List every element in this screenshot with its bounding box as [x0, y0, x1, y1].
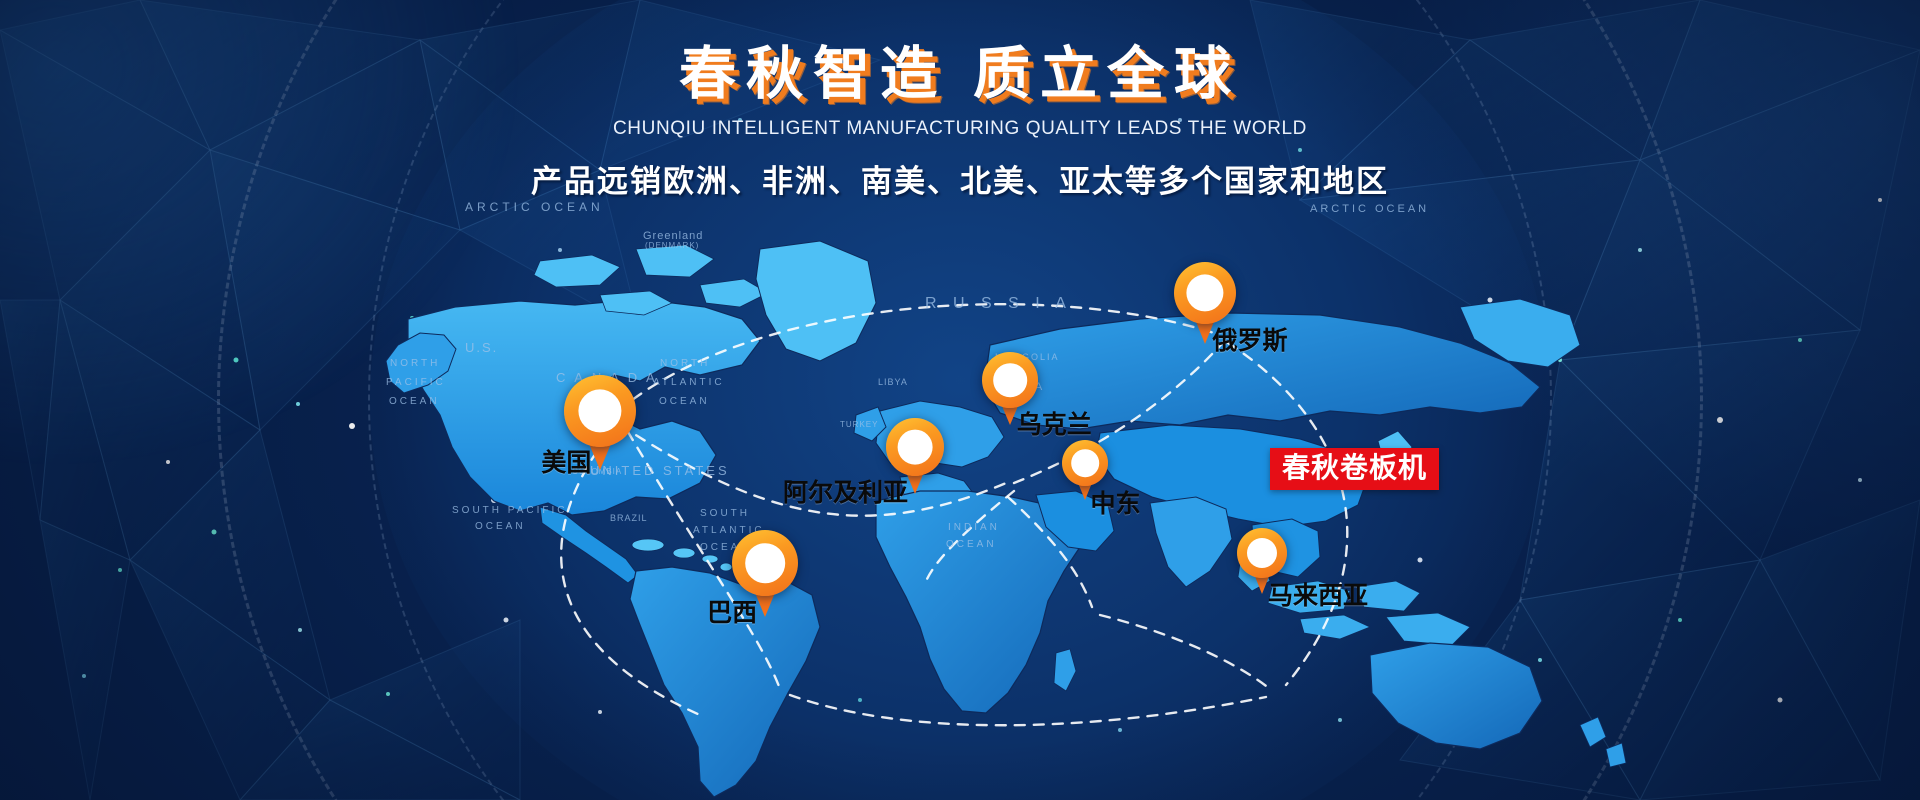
map-pin-ukraine[interactable]: 乌克兰 — [982, 352, 1038, 408]
landmass-greenland — [756, 241, 876, 361]
landmass-india — [1150, 497, 1232, 587]
landmass-new-zealand — [1580, 717, 1626, 767]
landmass-caribbean — [632, 539, 732, 571]
subtitle-chinese: 产品远销欧洲、非洲、南美、北美、亚太等多个国家和地区 — [0, 156, 1920, 201]
map-pin-icon — [732, 530, 798, 596]
world-map-svg — [0, 215, 1920, 800]
world-map: ARCTIC OCEANARCTIC OCEANU.S.C A N A D AU… — [0, 215, 1920, 800]
subtitle-english: CHUNQIU INTELLIGENT MANUFACTURING QUALIT… — [0, 118, 1920, 140]
map-pin-algeria[interactable]: 阿尔及利亚 — [886, 418, 944, 476]
landmass-australia — [1370, 643, 1542, 749]
map-pin-icon — [982, 352, 1038, 408]
map-pin-usa[interactable]: 美国 — [564, 375, 636, 447]
page-title: 春秋智造质立全球 — [0, 44, 1920, 104]
landmass-central-america — [540, 507, 638, 583]
title-part-1: 春秋智造 — [679, 42, 947, 106]
map-pin-icon — [1174, 262, 1236, 324]
brand-badge[interactable]: 春秋卷板机 — [1270, 448, 1439, 490]
map-pin-label: 阿尔及利亚 — [783, 473, 908, 509]
map-pin-malaysia[interactable]: 马来西亚 — [1237, 528, 1287, 578]
map-pin-label: 俄罗斯 — [1212, 321, 1287, 357]
landmass-madagascar — [1054, 649, 1076, 691]
title-part-2: 质立全球 — [973, 42, 1241, 106]
map-pin-label: 巴西 — [707, 593, 757, 629]
map-pin-icon — [1062, 440, 1108, 486]
map-pin-mideast[interactable]: 中东 — [1062, 440, 1108, 486]
map-pin-icon — [564, 375, 636, 447]
map-pin-icon — [1237, 528, 1287, 578]
banner-canvas: ARCTIC OCEANARCTIC OCEANU.S.C A N A D AU… — [0, 0, 1920, 800]
map-pin-icon — [886, 418, 944, 476]
map-pin-label: 马来西亚 — [1268, 576, 1368, 612]
map-pin-label: 中东 — [1091, 484, 1141, 520]
map-pin-label: 美国 — [541, 443, 591, 479]
map-pin-label: 乌克兰 — [1017, 405, 1092, 441]
headline-block: 春秋智造质立全球 CHUNQIU INTELLIGENT MANUFACTURI… — [0, 44, 1920, 201]
map-pin-brazil[interactable]: 巴西 — [732, 530, 798, 596]
map-pin-russia[interactable]: 俄罗斯 — [1174, 262, 1236, 324]
